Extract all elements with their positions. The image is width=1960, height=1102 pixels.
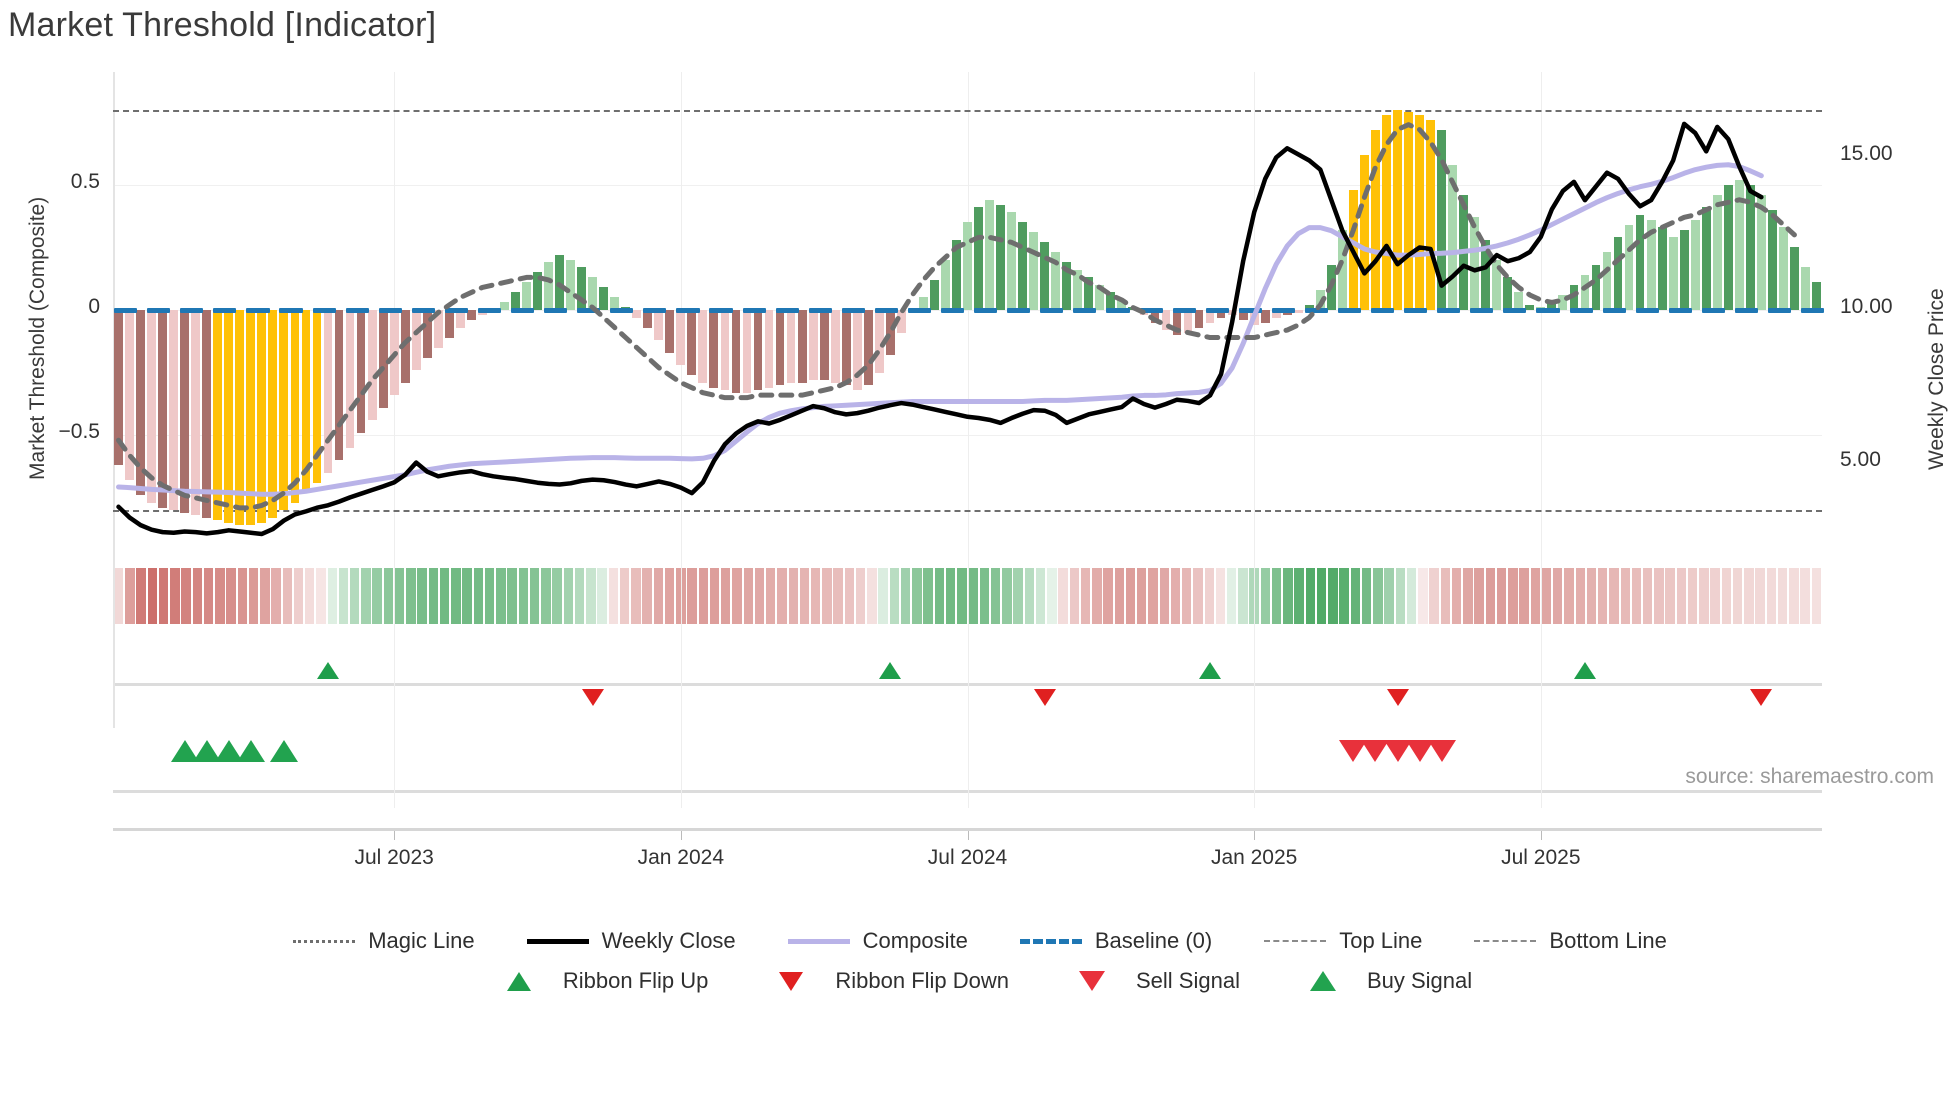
histogram-bar [257, 310, 266, 523]
legend-item-label: Bottom Line [1549, 928, 1666, 954]
histogram-bar [390, 310, 399, 395]
histogram-bar [1294, 310, 1303, 313]
histogram-bar [1415, 115, 1424, 310]
baseline-zero-segment [213, 308, 236, 313]
histogram-bar [831, 310, 840, 383]
histogram-bar [1051, 252, 1060, 310]
histogram-bar [1481, 240, 1490, 310]
bottom-line [113, 510, 1822, 512]
histogram-bar [379, 310, 388, 408]
baseline-zero-segment [1768, 308, 1791, 313]
x-tick-mark [1541, 831, 1542, 840]
legend-item-label: Ribbon Flip Down [835, 968, 1009, 994]
histogram-bar [1625, 225, 1634, 310]
histogram-bar [1614, 237, 1623, 310]
x-tick-mark [394, 831, 395, 840]
legend-item[interactable]: Baseline (0) [1020, 928, 1212, 954]
sell-triangle-icon [1079, 971, 1105, 991]
reference-line-swatch-icon [1264, 940, 1326, 942]
baseline-zero-segment [1735, 308, 1758, 313]
baseline-zero-segment [147, 308, 170, 313]
baseline-zero-segment [1470, 308, 1493, 313]
magic-line-swatch-icon [293, 940, 355, 943]
legend-row-spacer [0, 954, 1960, 968]
baseline-zero-segment [1669, 308, 1692, 313]
histogram-bar [1073, 270, 1082, 310]
histogram-bar [1228, 310, 1237, 315]
baseline-zero-segment [246, 308, 269, 313]
histogram-bar [423, 310, 432, 358]
histogram-bar [1128, 307, 1137, 310]
legend-item[interactable]: Ribbon Flip Up [488, 968, 709, 994]
source-attribution: source: sharemaestro.com [1685, 765, 1934, 789]
histogram-bar [985, 200, 994, 310]
baseline-zero-segment [1404, 308, 1427, 313]
baseline-zero-segment [478, 308, 501, 313]
histogram-bar [676, 310, 685, 365]
histogram-bar [412, 310, 421, 370]
histogram-bar [1261, 310, 1270, 323]
histogram-bar [577, 267, 586, 310]
histogram-bar [224, 310, 233, 523]
baseline-zero-segment [776, 308, 799, 313]
histogram-bar [1426, 120, 1435, 310]
baseline-zero-segment [346, 308, 369, 313]
histogram-bar [1724, 185, 1733, 310]
x-tick-label: Jul 2024 [858, 846, 1078, 870]
histogram-bar [709, 310, 718, 388]
baseline-zero-segment [941, 308, 964, 313]
histogram-bar [820, 310, 829, 380]
histogram-bar [114, 310, 123, 465]
baseline-zero-segment [1206, 308, 1229, 313]
histogram-bar [1349, 190, 1358, 310]
histogram-bar [897, 310, 906, 333]
histogram-bar [1779, 227, 1788, 310]
composite-swatch-icon [788, 939, 850, 944]
histogram-bar [1360, 155, 1369, 310]
histogram-bar [1702, 207, 1711, 310]
histogram-bar [213, 310, 222, 520]
histogram-bar [996, 205, 1005, 310]
histogram-bar [941, 260, 950, 310]
baseline-zero-segment [610, 308, 633, 313]
histogram-bar [588, 277, 597, 310]
histogram-bar [533, 272, 542, 310]
histogram-bar [721, 310, 730, 390]
histogram-bar [754, 310, 763, 390]
histogram-bar [544, 262, 553, 310]
histogram-bar [555, 255, 564, 310]
histogram-bar [1746, 185, 1755, 310]
histogram-bar [500, 302, 509, 310]
histogram-bar [1647, 220, 1656, 310]
histogram-bar [1768, 210, 1777, 310]
histogram-bar [1448, 165, 1457, 310]
histogram-bar [1592, 265, 1601, 310]
histogram-bar [335, 310, 344, 460]
baseline-zero-segment [643, 308, 666, 313]
histogram-bar [952, 240, 961, 310]
x-tick-label: Jan 2024 [571, 846, 791, 870]
histogram-bar [963, 222, 972, 310]
baseline-zero-segment [974, 308, 997, 313]
histogram-bar [1437, 130, 1446, 310]
y-tick-label-right: 10.00 [1840, 295, 1940, 319]
legend-item[interactable]: Magic Line [293, 928, 474, 954]
histogram-bar [732, 310, 741, 393]
histogram-bar [279, 310, 288, 510]
baseline-zero-segment [313, 308, 336, 313]
baseline-zero-segment [1437, 308, 1460, 313]
baseline-zero-segment [1140, 308, 1163, 313]
histogram-bar [1029, 232, 1038, 310]
histogram-bar [169, 310, 178, 510]
baseline-zero-segment [743, 308, 766, 313]
baseline-zero-segment [279, 308, 302, 313]
histogram-bar [1184, 310, 1193, 333]
histogram-bar [158, 310, 167, 508]
baseline-zero-segment [809, 308, 832, 313]
histogram-bar [1636, 215, 1645, 310]
baseline-zero-segment [1371, 308, 1394, 313]
baseline-zero-segment [511, 308, 534, 313]
chart-legend: Magic LineWeekly CloseCompositeBaseline … [0, 928, 1960, 994]
x-tick-mark [1254, 831, 1255, 840]
histogram-bar [1603, 252, 1612, 310]
legend-item-label: Magic Line [368, 928, 474, 954]
baseline-zero-segment [180, 308, 203, 313]
histogram-bar [522, 282, 531, 310]
baseline-zero-segment [1040, 308, 1063, 313]
histogram-bar [665, 310, 674, 353]
histogram-bar [654, 310, 663, 340]
histogram-bar [787, 310, 796, 383]
histogram-bar [1581, 275, 1590, 310]
histogram-bar [698, 310, 707, 383]
histogram-bar [1680, 230, 1689, 310]
legend-item[interactable]: Composite [788, 928, 968, 954]
y-tick-label-left: 0 [20, 295, 100, 319]
baseline-zero-segment [1503, 308, 1526, 313]
baseline-zero-segment [1636, 308, 1659, 313]
histogram-bar [1691, 220, 1700, 310]
gridline-vertical [968, 72, 969, 808]
histogram-bar [1062, 262, 1071, 310]
gridline-vertical [1254, 72, 1255, 808]
histogram-bar [643, 310, 652, 328]
legend-item[interactable]: Bottom Line [1474, 928, 1666, 954]
histogram-bar [136, 310, 145, 495]
histogram-bar [632, 310, 641, 318]
x-tick-label: Jul 2025 [1431, 846, 1651, 870]
baseline-zero-segment [1570, 308, 1593, 313]
buy-signal-marker [270, 740, 298, 762]
histogram-bar [246, 310, 255, 525]
histogram-bar [1327, 265, 1336, 310]
histogram-bar [1812, 282, 1821, 310]
gridline-vertical [681, 72, 682, 808]
legend-item-label: Sell Signal [1136, 968, 1240, 994]
histogram-bar [467, 310, 476, 320]
histogram-bar [886, 310, 895, 355]
histogram-bar [1570, 285, 1579, 310]
legend-item[interactable]: Ribbon Flip Down [760, 968, 1009, 994]
histogram-bar [1162, 310, 1171, 330]
histogram-bar [842, 310, 851, 385]
histogram-bar [853, 310, 862, 390]
histogram-bar [180, 310, 189, 513]
x-tick-mark [681, 831, 682, 840]
baseline-zero-segment [1338, 308, 1361, 313]
histogram-bar [235, 310, 244, 525]
legend-item-label: Baseline (0) [1095, 928, 1212, 954]
histogram-bar [864, 310, 873, 385]
histogram-bar [1658, 227, 1667, 310]
baseline-zero-segment [1801, 308, 1824, 313]
baseline-zero-segment [1106, 308, 1129, 313]
histogram-bar [599, 287, 608, 310]
histogram-bar [875, 310, 884, 373]
baseline-zero-segment [842, 308, 865, 313]
histogram-bar [147, 310, 156, 503]
baseline-zero-segment [114, 308, 137, 313]
baseline-zero-segment [1603, 308, 1626, 313]
histogram-bar [1195, 310, 1204, 328]
histogram-bar [1735, 180, 1744, 310]
histogram-bar [743, 310, 752, 393]
legend-item-label: Composite [863, 928, 968, 954]
gridline-vertical [1541, 72, 1542, 808]
baseline-zero-segment [412, 308, 435, 313]
baseline-zero-segment [577, 308, 600, 313]
y-tick-label-left: −0.5 [20, 420, 100, 444]
top-line [113, 110, 1822, 112]
histogram-bar [1007, 212, 1016, 310]
histogram-bar [1316, 290, 1325, 310]
histogram-bar [445, 310, 454, 338]
baseline-zero-segment [1173, 308, 1196, 313]
baseline-zero-segment [1305, 308, 1328, 313]
histogram-bar [401, 310, 410, 383]
baseline-zero-segment [1007, 308, 1030, 313]
histogram-bar [202, 310, 211, 518]
histogram-bar [1525, 305, 1534, 310]
histogram-bar [125, 310, 134, 480]
histogram-bar [1018, 222, 1027, 310]
histogram-bar [1558, 295, 1567, 310]
histogram-bar [1173, 310, 1182, 335]
legend-item-label: Top Line [1339, 928, 1422, 954]
histogram-bar [313, 310, 322, 483]
legend-item-label: Weekly Close [602, 928, 736, 954]
histogram-bar [324, 310, 333, 473]
legend-item-label: Buy Signal [1367, 968, 1472, 994]
legend-row-markers: Ribbon Flip UpRibbon Flip DownSell Signa… [0, 968, 1960, 994]
histogram-bar [1040, 242, 1049, 310]
baseline-zero-segment [1272, 308, 1295, 313]
baseline-zero-segment [1073, 308, 1096, 313]
histogram-bar [1757, 195, 1766, 310]
histogram-bar [1084, 277, 1093, 310]
y-tick-label-right: 15.00 [1840, 142, 1940, 166]
histogram-bar [368, 310, 377, 420]
legend-item[interactable]: Sell Signal [1061, 968, 1240, 994]
histogram-bar [357, 310, 366, 433]
legend-item[interactable]: Weekly Close [527, 928, 736, 954]
histogram-bar [1669, 237, 1678, 310]
baseline-zero-segment [1536, 308, 1559, 313]
x-tick-label: Jan 2025 [1144, 846, 1364, 870]
baseline-zero-segment [676, 308, 699, 313]
legend-item[interactable]: Buy Signal [1292, 968, 1472, 994]
histogram-bar [776, 310, 785, 385]
histogram-bar [1393, 110, 1402, 310]
histogram-bar [1470, 217, 1479, 310]
histogram-bar [765, 310, 774, 388]
y-tick-label-left: 0.5 [20, 170, 100, 194]
y-tick-label-right: 5.00 [1840, 448, 1940, 472]
baseline-zero-segment [1702, 308, 1725, 313]
triangle-up-icon [507, 972, 531, 991]
x-tick-label: Jul 2023 [284, 846, 504, 870]
gridline-vertical [394, 72, 395, 808]
x-tick-mark [968, 831, 969, 840]
histogram-bar [1503, 277, 1512, 310]
baseline-zero-segment [908, 308, 931, 313]
baseline-swatch-icon [1020, 939, 1082, 944]
histogram-bar [798, 310, 807, 383]
histogram-bar [974, 207, 983, 310]
legend-item[interactable]: Top Line [1264, 928, 1422, 954]
sell-signal-marker [1428, 740, 1456, 762]
baseline-zero-segment [379, 308, 402, 313]
baseline-zero-segment [709, 308, 732, 313]
buy-triangle-icon [1310, 971, 1336, 991]
histogram-bar [1382, 115, 1391, 310]
histogram-bar [268, 310, 277, 518]
histogram-bar [291, 310, 300, 503]
histogram-bar [1095, 285, 1104, 310]
histogram-bar [1459, 195, 1468, 310]
weekly-close-swatch-icon [527, 939, 589, 944]
reference-line-swatch-icon [1474, 940, 1536, 942]
histogram-bar [1492, 260, 1501, 310]
histogram-bar [1404, 112, 1413, 310]
histogram-bar [434, 310, 443, 348]
histogram-bar [346, 310, 355, 448]
histogram-bar [456, 310, 465, 328]
histogram-bar [1801, 267, 1810, 310]
histogram-bar [191, 310, 200, 515]
baseline-zero-segment [1239, 308, 1262, 313]
baseline-zero-segment [544, 308, 567, 313]
histogram-bar [930, 280, 939, 310]
buy-signal-marker [237, 740, 265, 762]
histogram-bar [1371, 130, 1380, 310]
histogram-bar [687, 310, 696, 375]
histogram-bar [1338, 230, 1347, 310]
histogram-bar [566, 260, 575, 310]
histogram-bar [809, 310, 818, 380]
triangle-down-icon [779, 972, 803, 991]
histogram-bar [1713, 195, 1722, 310]
legend-row-lines: Magic LineWeekly CloseCompositeBaseline … [0, 928, 1960, 954]
histogram-bar [302, 310, 311, 493]
legend-item-label: Ribbon Flip Up [563, 968, 709, 994]
histogram-bar [1790, 247, 1799, 310]
baseline-zero-segment [875, 308, 898, 313]
baseline-zero-segment [445, 308, 468, 313]
